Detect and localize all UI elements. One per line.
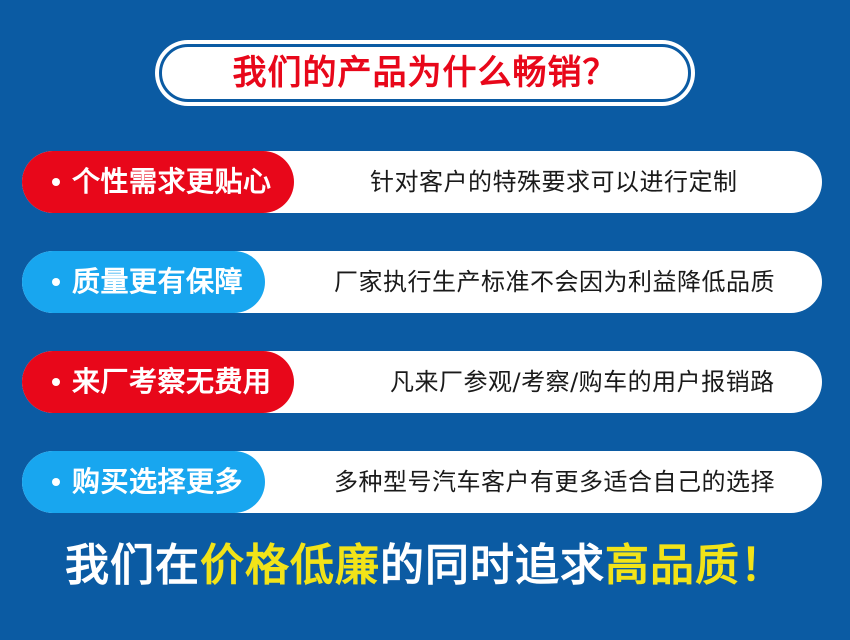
feature-row-3: 来厂考察无费用 凡来厂参观/考察/购车的用户报销路 [22, 351, 822, 413]
feature-row-1-badge-label: 个性需求更贴心 [72, 168, 272, 196]
promo-banner: 我们的产品为什么畅销？ 个性需求更贴心 针对客户的特殊要求可以进行定制 质量更有… [0, 0, 850, 640]
feature-row-1: 个性需求更贴心 针对客户的特殊要求可以进行定制 [22, 151, 822, 213]
slogan-part-4-highlight: 高品质！ [605, 540, 785, 591]
feature-row-4-description: 多种型号汽车客户有更多适合自己的选择 [334, 451, 775, 513]
feature-row-2: 质量更有保障 厂家执行生产标准不会因为利益降低品质 [22, 251, 822, 313]
feature-row-4-badge: 购买选择更多 [22, 451, 265, 513]
title-pill: 我们的产品为什么畅销？ [155, 40, 695, 106]
bullet-dot-icon [52, 178, 60, 186]
feature-row-3-description: 凡来厂参观/考察/购车的用户报销路 [390, 351, 775, 413]
page-title: 我们的产品为什么畅销？ [233, 56, 618, 90]
feature-row-2-badge-label: 质量更有保障 [72, 268, 243, 296]
feature-row-1-badge: 个性需求更贴心 [22, 151, 294, 213]
feature-row-4-badge-label: 购买选择更多 [72, 468, 243, 496]
feature-row-3-badge: 来厂考察无费用 [22, 351, 294, 413]
slogan-part-2-highlight: 价格低廉 [200, 540, 380, 591]
feature-row-1-description: 针对客户的特殊要求可以进行定制 [370, 151, 738, 213]
feature-row-4: 购买选择更多 多种型号汽车客户有更多适合自己的选择 [22, 451, 822, 513]
title-pill-inner: 我们的产品为什么畅销？ [159, 44, 691, 102]
bullet-dot-icon [52, 478, 60, 486]
feature-row-2-badge: 质量更有保障 [22, 251, 265, 313]
feature-row-3-badge-label: 来厂考察无费用 [72, 368, 272, 396]
slogan-part-3: 的同时追求 [380, 540, 605, 591]
bottom-slogan: 我们在价格低廉的同时追求高品质！ [0, 542, 850, 590]
bullet-dot-icon [52, 278, 60, 286]
bullet-dot-icon [52, 378, 60, 386]
feature-row-2-description: 厂家执行生产标准不会因为利益降低品质 [334, 251, 775, 313]
slogan-part-1: 我们在 [65, 540, 200, 591]
